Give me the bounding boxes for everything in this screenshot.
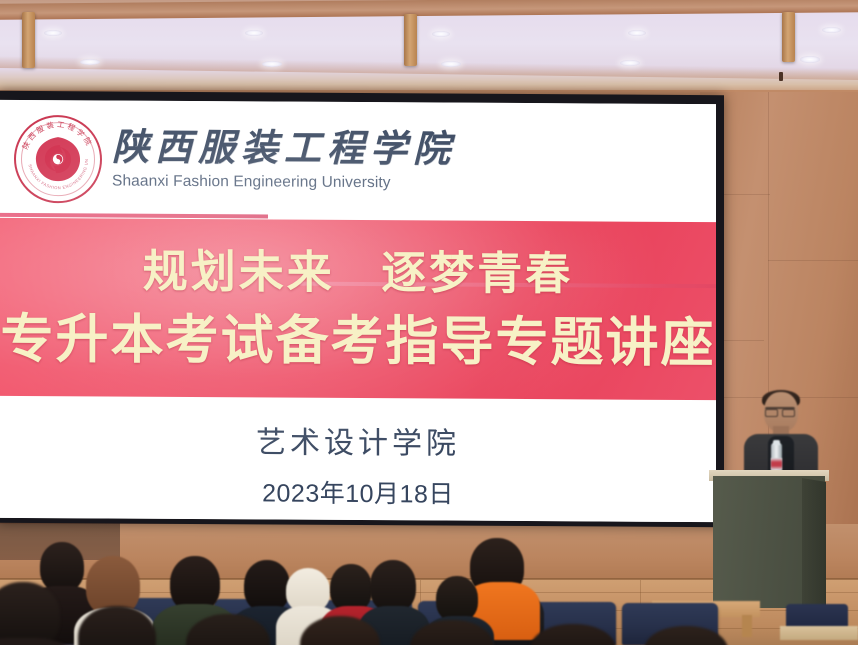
lecture-hall-photo: 陕西服装工程学院 SHAANXI FASHION ENGINEERING UNI… [0, 0, 858, 645]
ceiling-beam [0, 0, 858, 20]
university-seal-icon: 陕西服装工程学院 SHAANXI FASHION ENGINEERING UNI… [14, 115, 102, 204]
eyeglasses-icon [765, 407, 795, 416]
ceiling-cove-edge [0, 56, 858, 80]
bottle-cap [773, 440, 780, 445]
slide-title-band: 规划未来 逐梦青春 专升本考试备考指导专题讲座 [0, 218, 716, 400]
university-name-cn: 陕西服装工程学院 [112, 128, 456, 170]
downlight-icon [432, 31, 450, 37]
audience-area [0, 520, 740, 645]
presentation-slide: 陕西服装工程学院 SHAANXI FASHION ENGINEERING UNI… [0, 100, 716, 522]
podium-side-panel [802, 478, 826, 610]
university-name-block: 陕西服装工程学院 Shaanxi Fashion Engineering Uni… [112, 128, 456, 193]
downlight-icon [44, 30, 62, 36]
downlight-icon [822, 27, 841, 33]
downlight-icon [800, 56, 820, 63]
wall-panel-seam [768, 260, 858, 261]
downlight-icon [262, 61, 282, 67]
downlight-icon [628, 30, 646, 36]
pendant-light-icon [782, 12, 795, 62]
university-name-en: Shaanxi Fashion Engineering University [112, 173, 456, 193]
bottle-label [771, 458, 782, 470]
side-chair-seat [780, 626, 858, 640]
slide-footer: 艺术设计学院 2023年10月18日 [0, 396, 716, 522]
slide-title-line-2: 专升本考试备考指导专题讲座 [1, 313, 716, 370]
projection-screen[interactable]: 陕西服装工程学院 SHAANXI FASHION ENGINEERING UNI… [0, 100, 716, 522]
side-table-leg [742, 615, 752, 637]
downlight-icon [245, 30, 263, 36]
pendant-light-icon [22, 12, 35, 68]
pendant-light-icon [404, 14, 417, 66]
department-name: 艺术设计学院 [256, 417, 460, 462]
event-date: 2023年10月18日 [262, 473, 454, 510]
slide-header: 陕西服装工程学院 SHAANXI FASHION ENGINEERING UNI… [0, 100, 716, 222]
seal-emblem-icon [30, 131, 86, 187]
downlight-icon [620, 60, 640, 66]
ceiling [0, 0, 858, 96]
downlight-icon [80, 59, 100, 65]
slide-title-line-1: 规划未来 逐梦青春 [143, 249, 574, 297]
ceiling-sensor-icon [779, 72, 783, 81]
downlight-icon [441, 61, 461, 67]
